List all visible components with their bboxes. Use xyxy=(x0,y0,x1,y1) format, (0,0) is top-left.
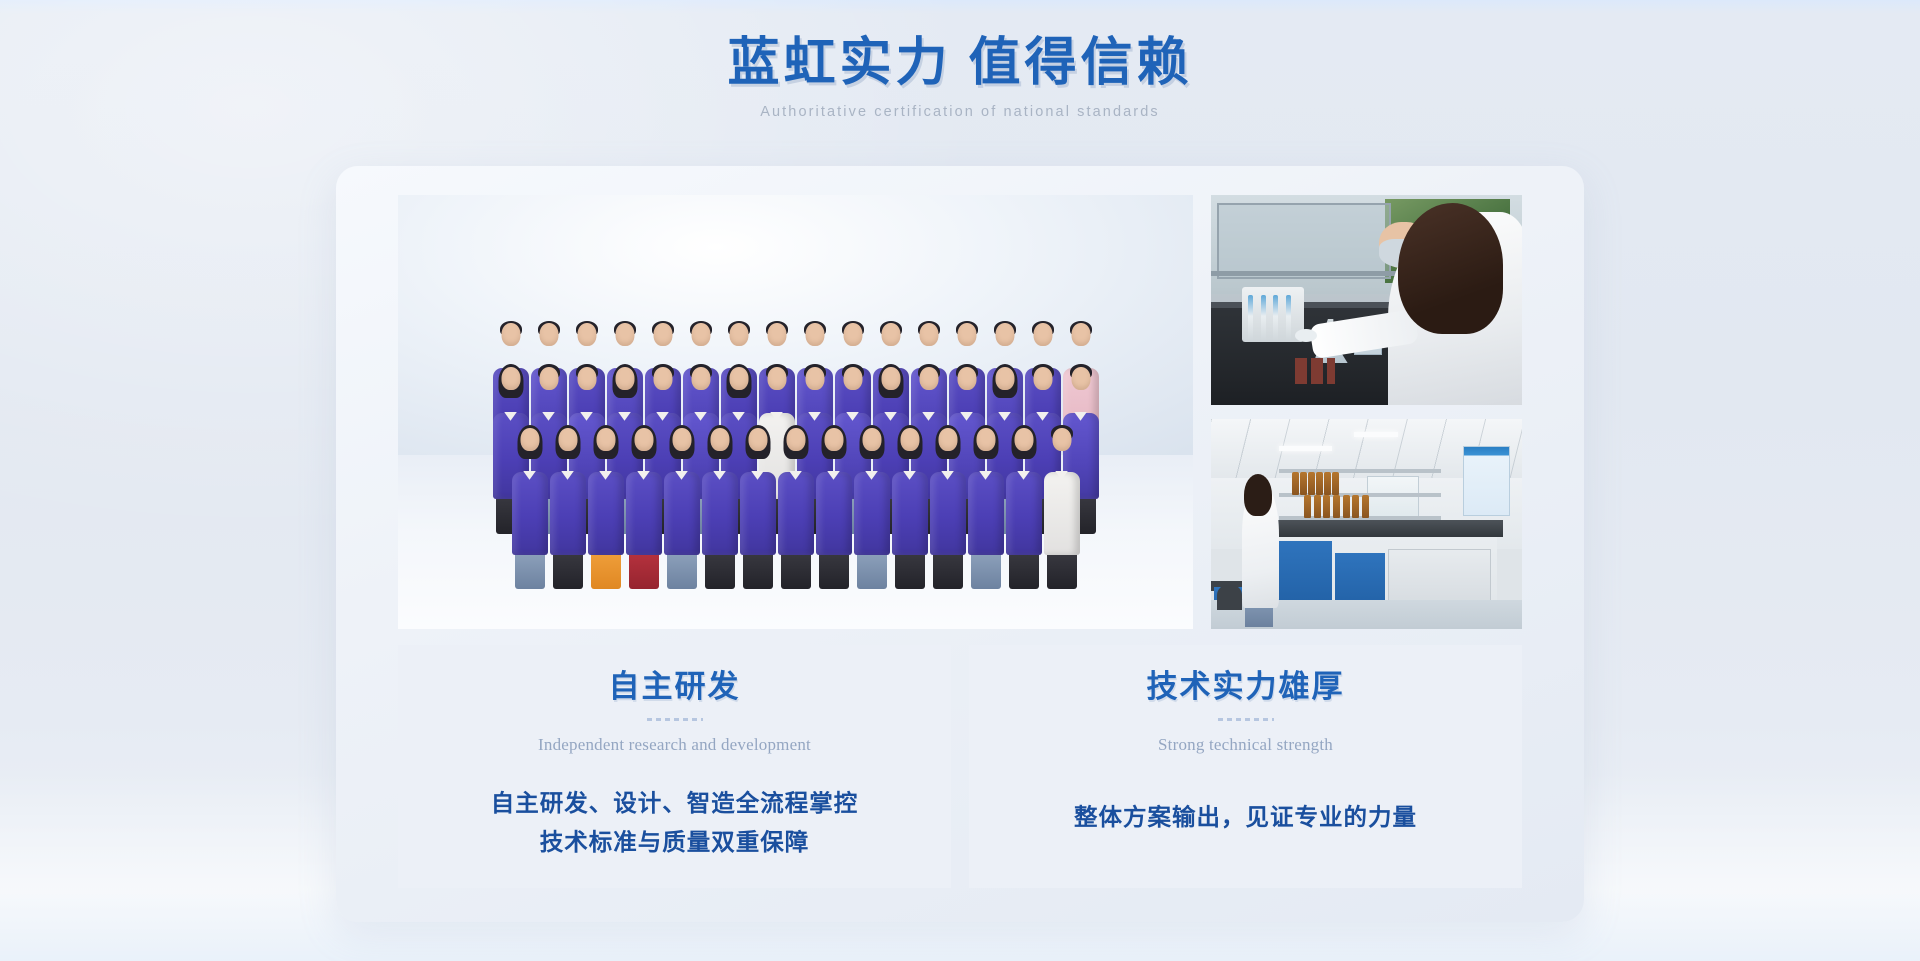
person xyxy=(890,425,930,555)
lab-stool xyxy=(1217,585,1242,610)
lab-room-photo[interactable] xyxy=(1211,419,1522,629)
page-background: 蓝虹实力 值得信赖 Authoritative certification of… xyxy=(0,0,1920,961)
media-gallery xyxy=(398,195,1522,629)
person xyxy=(928,425,968,555)
person xyxy=(700,425,740,555)
person xyxy=(624,425,664,555)
technician-hair xyxy=(1244,474,1272,516)
card-title: 自主研发 xyxy=(398,668,951,707)
person xyxy=(1004,425,1044,555)
island-bench-top xyxy=(1255,520,1504,537)
lab-technician-scene xyxy=(1211,195,1522,405)
card-body: 整体方案输出，见证专业的力量 xyxy=(969,799,1522,838)
person xyxy=(966,425,1006,555)
page-header: 蓝虹实力 值得信赖 Authoritative certification of… xyxy=(0,34,1920,120)
person xyxy=(586,425,626,555)
reagent-row xyxy=(1304,495,1372,518)
technician-glove xyxy=(1295,329,1317,342)
person xyxy=(776,425,816,555)
content-panel: 自主研发 Independent research and developmen… xyxy=(336,166,1584,922)
fume-hood-frame xyxy=(1217,203,1391,279)
lab-technician-photo[interactable] xyxy=(1211,195,1522,405)
person xyxy=(738,425,778,555)
person xyxy=(814,425,854,555)
dashed-divider-icon xyxy=(647,718,703,721)
card-body-line-1: 整体方案输出，见证专业的力量 xyxy=(1074,805,1417,831)
ceiling-lamp xyxy=(1279,446,1332,451)
lab-room-scene xyxy=(1211,419,1522,629)
group-row-front xyxy=(398,425,1193,555)
page-subtitle: Authoritative certification of national … xyxy=(0,104,1920,120)
card-body-line-1: 自主研发、设计、智造全流程掌控 xyxy=(491,791,859,817)
team-group-photo[interactable] xyxy=(398,195,1193,629)
feature-cards: 自主研发 Independent research and developmen… xyxy=(398,645,1522,888)
page-title: 蓝虹实力 值得信赖 xyxy=(0,34,1920,94)
dashed-divider-icon xyxy=(1218,718,1274,721)
reagent-row xyxy=(1292,472,1342,495)
person xyxy=(548,425,588,555)
feature-card-independent-rd[interactable]: 自主研发 Independent research and developmen… xyxy=(398,645,951,888)
card-english-subtitle: Strong technical strength xyxy=(969,735,1522,755)
card-body-line-2: 技术标准与质量双重保障 xyxy=(398,824,951,863)
safety-poster xyxy=(1463,446,1510,515)
card-english-subtitle: Independent research and development xyxy=(398,735,951,755)
reagent-bottles xyxy=(1295,358,1335,384)
person xyxy=(662,425,702,555)
feature-card-technical-strength[interactable]: 技术实力雄厚 Strong technical strength 整体方案输出，… xyxy=(969,645,1522,888)
person xyxy=(510,425,550,555)
person xyxy=(1042,425,1082,555)
group-photo-people xyxy=(398,195,1193,629)
ceiling-lamp xyxy=(1354,432,1398,437)
technician-hair xyxy=(1398,203,1504,333)
card-title: 技术实力雄厚 xyxy=(969,668,1522,707)
person xyxy=(852,425,892,555)
card-body: 自主研发、设计、智造全流程掌控 技术标准与质量双重保障 xyxy=(398,785,951,863)
